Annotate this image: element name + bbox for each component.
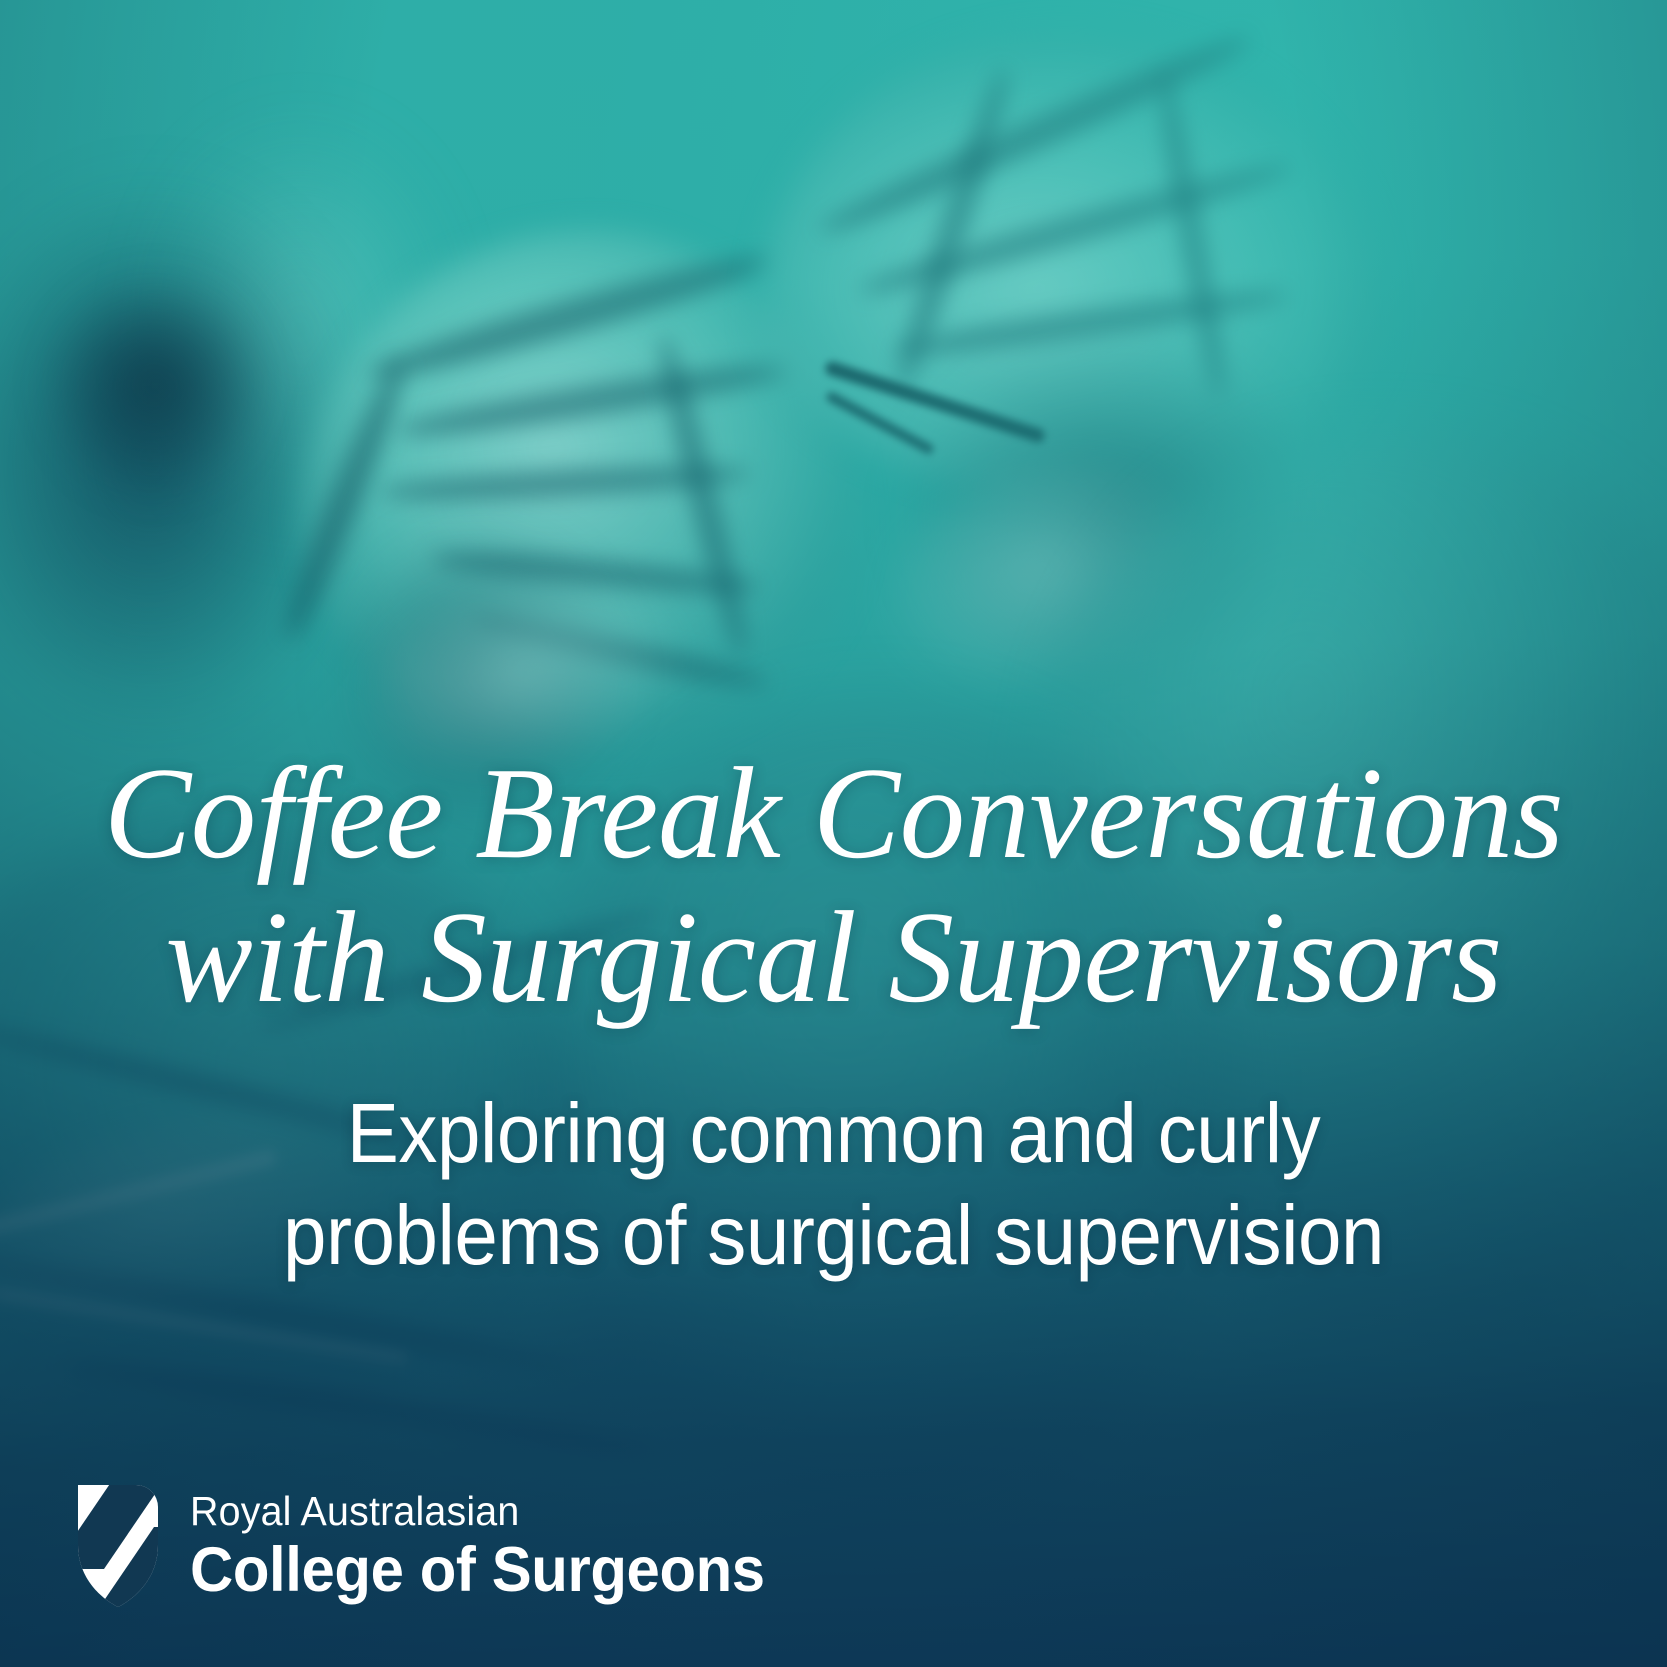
logo-line-college-of-surgeons: College of Surgeons xyxy=(190,1539,765,1602)
page-subtitle: Exploring common and curly problems of s… xyxy=(0,1082,1667,1287)
page-title: Coffee Break Conversations with Surgical… xyxy=(0,742,1667,1030)
racs-logo: Royal Australasian College of Surgeons xyxy=(76,1483,795,1609)
subtitle-line-1: Exploring common and curly xyxy=(114,1082,1553,1184)
logo-line-royal-australasian: Royal Australasian xyxy=(190,1491,771,1532)
title-line-2: with Surgical Supervisors xyxy=(40,886,1627,1030)
title-line-1: Coffee Break Conversations xyxy=(40,742,1627,886)
racs-logo-wordmark: Royal Australasian College of Surgeons xyxy=(190,1491,795,1602)
poster-content: Coffee Break Conversations with Surgical… xyxy=(0,0,1667,1667)
poster-canvas: Coffee Break Conversations with Surgical… xyxy=(0,0,1667,1667)
racs-shield-icon xyxy=(76,1483,160,1609)
subtitle-line-2: problems of surgical supervision xyxy=(114,1184,1553,1286)
